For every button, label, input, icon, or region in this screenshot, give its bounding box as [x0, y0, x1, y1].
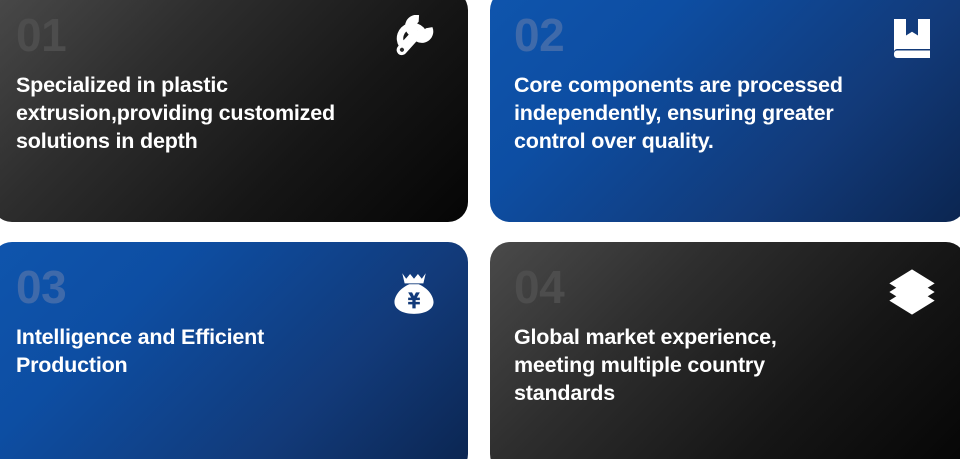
- feature-card-03[interactable]: 03 Intelligence and Efficient Production: [0, 242, 468, 459]
- card-number: 04: [514, 264, 942, 310]
- wrench-icon: [388, 14, 440, 66]
- card-number: 01: [16, 12, 444, 58]
- layers-stack-icon: [886, 266, 938, 318]
- feature-card-grid: 01 Specialized in plastic extrusion,prov…: [0, 0, 960, 459]
- feature-card-02[interactable]: 02 Core components are processed indepen…: [490, 0, 960, 222]
- book-bookmark-icon: [886, 14, 938, 66]
- feature-card-01[interactable]: 01 Specialized in plastic extrusion,prov…: [0, 0, 468, 222]
- card-number: 03: [16, 264, 444, 310]
- card-description: Intelligence and Efficient Production: [16, 324, 444, 380]
- card-description: Core components are processed independen…: [514, 72, 942, 156]
- card-inner: 04 Global market experience, meeting mul…: [490, 242, 960, 459]
- money-bag-yen-icon: [388, 266, 440, 318]
- feature-card-04[interactable]: 04 Global market experience, meeting mul…: [490, 242, 960, 459]
- card-inner: 03 Intelligence and Efficient Production: [0, 242, 468, 459]
- card-description: Specialized in plastic extrusion,providi…: [16, 72, 444, 156]
- card-inner: 01 Specialized in plastic extrusion,prov…: [0, 0, 468, 222]
- card-description: Global market experience, meeting multip…: [514, 324, 942, 408]
- card-inner: 02 Core components are processed indepen…: [490, 0, 960, 222]
- card-number: 02: [514, 12, 942, 58]
